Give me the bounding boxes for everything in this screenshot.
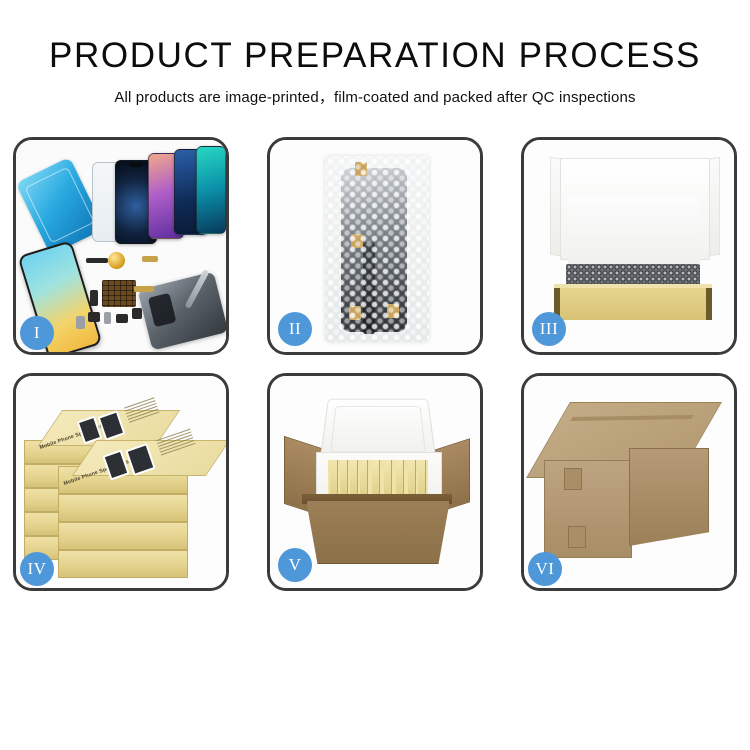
step-badge-1: I [20,316,54,350]
box-edge-right [706,288,712,320]
yellow-box-base [554,288,712,320]
process-steps-grid: I II [13,137,737,591]
stacked-box [58,494,188,522]
white-foam-sheet [568,198,700,264]
step-badge-3: III [532,312,566,346]
page-title: PRODUCT PREPARATION PROCESS [0,38,750,73]
chip-array-part [102,280,136,307]
page-subtitle: All products are image-printed，film-coat… [0,86,750,107]
step-panel-3: III [521,137,737,355]
carton-body [306,500,450,564]
stacked-box [58,522,188,550]
step-panel-6: VI [521,373,737,591]
phone-display-teal [196,146,226,234]
small-part [142,256,158,262]
carton-front-face [544,460,632,558]
step-panel-2: II [267,137,483,355]
step-badge-6: VI [528,552,562,586]
small-part [90,290,98,306]
small-part [116,314,128,323]
step-badge-4: IV [20,552,54,586]
stacked-box [58,550,188,578]
small-part [134,286,154,292]
small-part [88,312,100,322]
bubble-wrap-bag [325,156,429,342]
vibration-motor-part [108,252,125,269]
step-panel-5: V [267,373,483,591]
bubble-texture [325,156,429,342]
step-panel-4: Mobile Phone Spare Parts Mobile Phone Sp… [13,373,229,591]
phone-notch-icon [129,163,143,167]
page-header: PRODUCT PREPARATION PROCESS All products… [0,0,750,107]
box-stack: Mobile Phone Spare Parts Mobile Phone Sp… [22,394,222,574]
carton-tape-tab [568,526,586,548]
step-badge-5: V [278,548,312,582]
phone-back-housing [138,271,226,350]
small-part [86,258,108,263]
small-part [104,312,111,324]
carton-tape-tab [564,468,582,490]
step-panel-1: I [13,137,229,355]
small-part [132,308,142,319]
carton-side-face [629,448,709,546]
step-badge-2: II [278,312,312,346]
small-part [76,316,85,329]
